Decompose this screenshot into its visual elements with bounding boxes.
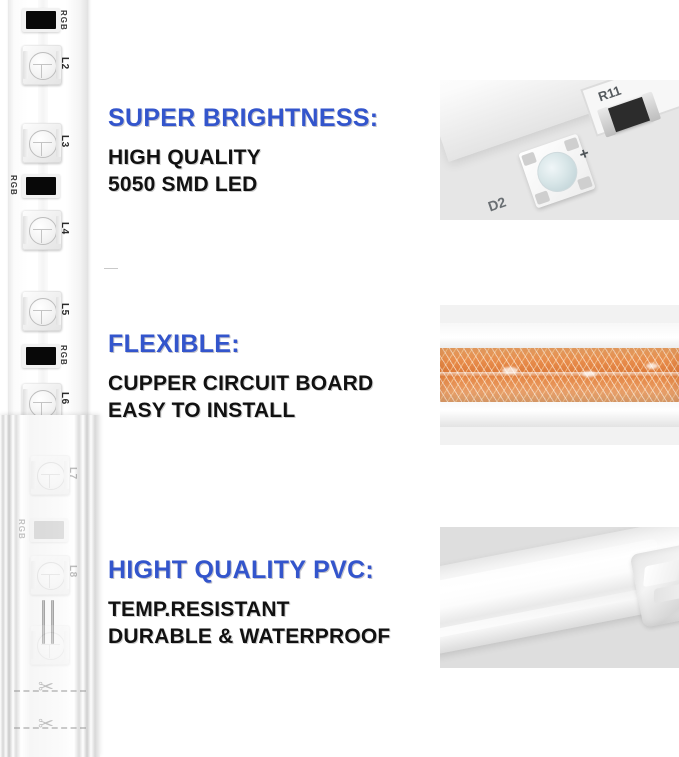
strip-component-led-l8 [30, 555, 70, 595]
led-lens [29, 390, 57, 418]
photo-copper-circuit-board [440, 305, 679, 445]
strip-component-resistor-rgb-2 [22, 174, 60, 198]
feature-line-cupper-circuit-board: CUPPER CIRCUIT BOARD [108, 371, 373, 398]
strip-label-l4: L4 [59, 222, 70, 235]
feature-block-super-brightness: SUPER BRIGHTNESS: HIGH QUALITY 5050 SMD … [108, 104, 378, 199]
led-pad-left [31, 461, 36, 489]
led-pad-right [64, 631, 69, 659]
strip-label-l2: L2 [59, 57, 70, 70]
chip-pad [577, 176, 593, 191]
section-divider [104, 268, 118, 269]
strip-label-rgb-1: RGB [59, 10, 68, 31]
strip-label-l6: L6 [59, 392, 70, 405]
strip-label-rgb-3: RGB [59, 345, 68, 366]
pvc-sleeve-overlay: L7 RGB L8 ✂ ✂ [0, 415, 100, 757]
strip-label-l3: L3 [59, 135, 70, 148]
silkscreen-label-d2: D2 [486, 194, 508, 215]
feature-line-high-quality: HIGH QUALITY [108, 145, 378, 172]
scissors-icon: ✂ [38, 677, 54, 699]
strip-label-rgb-2: RGB [9, 175, 18, 196]
feature-block-flexible: FLEXIBLE: CUPPER CIRCUIT BOARD EASY TO I… [108, 330, 373, 425]
strip-label-l5: L5 [59, 303, 70, 316]
resistor-body [26, 11, 56, 29]
led-pad-left [23, 51, 28, 79]
led-lens [37, 562, 65, 590]
resistor-body [34, 521, 64, 539]
resistor-body [26, 347, 56, 365]
feature-heading-super-brightness: SUPER BRIGHTNESS: [108, 104, 378, 133]
led-pad-left [31, 631, 36, 659]
led-pad-left [31, 561, 36, 589]
spacer [108, 585, 390, 597]
strip-component-resistor-rgb-1 [22, 8, 60, 32]
scissors-icon: ✂ [38, 714, 54, 736]
resistor-body [26, 177, 56, 195]
chip-pad [534, 190, 550, 205]
led-lens [29, 130, 57, 158]
strip-component-led-end [30, 625, 70, 665]
led-lens [29, 298, 57, 326]
led-pad-left [23, 389, 28, 417]
copper-braid [440, 348, 679, 402]
strip-component-resistor-rgb-3 [22, 344, 60, 368]
feature-heading-flexible: FLEXIBLE: [108, 330, 373, 359]
strip-component-led-l2 [22, 45, 62, 85]
spacer [108, 359, 373, 371]
led-lens [37, 462, 65, 490]
feature-line-easy-to-install: EASY TO INSTALL [108, 398, 373, 425]
led-pad-left [23, 297, 28, 325]
strip-component-led-l5 [22, 291, 62, 331]
chip-phosphor-dome [532, 147, 583, 198]
sleeve-facet [643, 556, 679, 587]
led-strip-illustration: RGB L2 L3 RGB L4 L5 RGB L6 [0, 0, 100, 757]
led-lens [37, 632, 65, 660]
copper-highlight [646, 363, 658, 369]
strip-cut-line-1: ✂ [14, 680, 86, 702]
photo-clear-pvc-sleeve [440, 527, 679, 668]
strip-cut-line-2: ✂ [14, 717, 86, 739]
led-pad-left [23, 129, 28, 157]
strip-component-led-l7 [30, 455, 70, 495]
feature-line-5050-smd-led: 5050 SMD LED [108, 172, 378, 199]
photo-5050-smd-led: R11 D2 + [440, 80, 679, 220]
feature-line-temp-resistant: TEMP.RESISTANT [108, 597, 390, 624]
led-pad-left [23, 216, 28, 244]
strip-component-led-l3 [22, 123, 62, 163]
feature-block-hight-quality-pvc: HIGHT QUALITY PVC: TEMP.RESISTANT DURABL… [108, 556, 390, 651]
strip-component-resistor-rgb-4 [30, 518, 68, 542]
copper-highlight [582, 371, 596, 377]
feature-heading-hight-quality-pvc: HIGHT QUALITY PVC: [108, 556, 390, 585]
strip-component-led-l4 [22, 210, 62, 250]
led-lens [29, 217, 57, 245]
spacer [108, 133, 378, 145]
copper-highlight [502, 367, 518, 374]
strip-label-rgb-4: RGB [17, 519, 26, 540]
chip-pad [521, 152, 537, 167]
led-lens [29, 52, 57, 80]
feature-line-durable-waterproof: DURABLE & WATERPROOF [108, 624, 390, 651]
strip-label-l8: L8 [67, 565, 78, 578]
strip-label-l7: L7 [67, 467, 78, 480]
